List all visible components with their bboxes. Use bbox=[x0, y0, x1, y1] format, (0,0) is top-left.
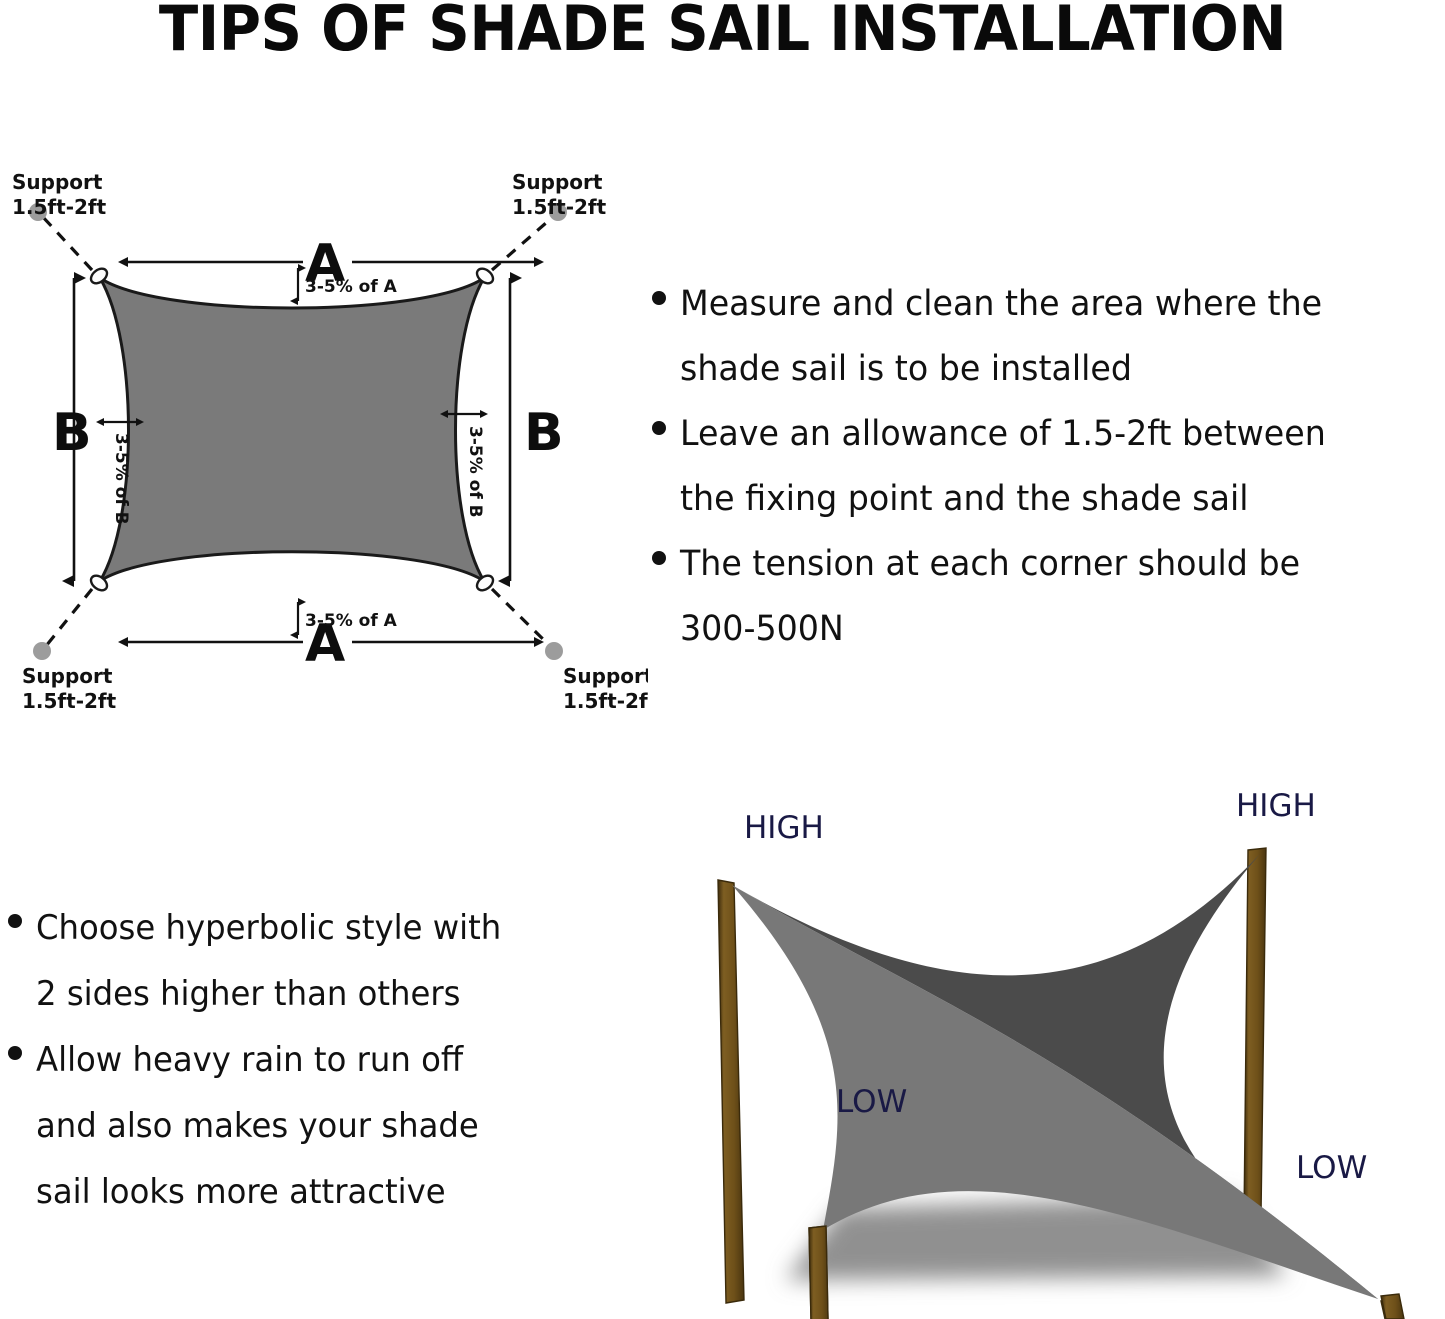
support-line-bottom-right bbox=[492, 589, 550, 646]
list-item-label: shade sail is to be installed bbox=[680, 337, 1132, 402]
corner-label-high-left: HIGH bbox=[744, 810, 824, 846]
list-item-label: Measure and clean the area where the bbox=[680, 272, 1322, 337]
hyperbolic-sail-diagram: HIGH HIGH LOW LOW bbox=[636, 788, 1445, 1319]
list-item-label: The tension at each corner should be bbox=[680, 532, 1300, 597]
list-item-continuation: sail looks more attractive bbox=[8, 1159, 638, 1225]
anchor-dot-bottom-left bbox=[33, 642, 51, 660]
dim-label-left-b: B bbox=[52, 403, 92, 463]
support-label-top-right-line1: Support bbox=[512, 170, 603, 194]
sag-label-left: 3-5% of B bbox=[111, 433, 131, 525]
list-item-label: sail looks more attractive bbox=[36, 1159, 446, 1225]
list-item-label: Allow heavy rain to run off bbox=[36, 1027, 463, 1093]
infographic-page: TIPS OF SHADE SAIL INSTALLATION bbox=[0, 0, 1445, 1319]
bullet-dot-icon bbox=[8, 1046, 22, 1060]
post-back-right bbox=[1244, 848, 1266, 1217]
support-label-top-right-line2: 1.5ft-2ft bbox=[512, 195, 607, 219]
list-item-label: and also makes your shade bbox=[36, 1093, 479, 1159]
list-item-continuation: the fixing point and the shade sail bbox=[652, 467, 1445, 532]
corner-label-high-right: HIGH bbox=[1236, 788, 1316, 824]
list-item: The tension at each corner should be bbox=[652, 532, 1445, 597]
support-label-top-left-line2: 1.5ft-2ft bbox=[12, 195, 107, 219]
list-item-label: 2 sides higher than others bbox=[36, 961, 460, 1027]
list-item-continuation: 2 sides higher than others bbox=[8, 961, 638, 1027]
bullet-dot-icon bbox=[652, 551, 666, 565]
list-item-continuation: 300-500N bbox=[652, 597, 1445, 662]
support-label-bottom-right-line2: 1.5ft-2ft bbox=[563, 689, 648, 713]
bullet-spacer-icon bbox=[652, 616, 666, 630]
post-back-left bbox=[718, 880, 744, 1303]
support-line-top-left bbox=[42, 216, 92, 270]
list-item-label: Leave an allowance of 1.5-2ft between bbox=[680, 402, 1326, 467]
page-title: TIPS OF SHADE SAIL INSTALLATION bbox=[51, 0, 1395, 61]
support-label-bottom-left-line1: Support bbox=[22, 664, 113, 688]
sag-label-top: 3-5% of A bbox=[305, 277, 398, 297]
list-item-continuation: and also makes your shade bbox=[8, 1093, 638, 1159]
bullet-dot-icon bbox=[652, 421, 666, 435]
bullet-spacer-icon bbox=[652, 486, 666, 500]
list-item-label: the fixing point and the shade sail bbox=[680, 467, 1248, 532]
support-label-top-left-line1: Support bbox=[12, 170, 103, 194]
post-front-left-overlay bbox=[809, 1226, 830, 1319]
corner-label-low-right: LOW bbox=[1296, 1150, 1367, 1186]
list-item: Choose hyperbolic style with bbox=[8, 895, 638, 961]
bullet-spacer-icon bbox=[8, 1178, 22, 1192]
sail-body-rect bbox=[100, 278, 484, 581]
dim-label-right-b: B bbox=[524, 403, 564, 463]
corner-label-low-left: LOW bbox=[836, 1084, 907, 1120]
bullet-spacer-icon bbox=[8, 980, 22, 994]
list-item: Allow heavy rain to run off bbox=[8, 1027, 638, 1093]
list-item-label: Choose hyperbolic style with bbox=[36, 895, 501, 961]
tips-list-left: Choose hyperbolic style with 2 sides hig… bbox=[8, 895, 638, 1225]
support-line-bottom-left bbox=[46, 589, 92, 646]
bullet-spacer-icon bbox=[652, 356, 666, 370]
list-item-label: 300-500N bbox=[680, 597, 844, 662]
list-item: Measure and clean the area where the bbox=[652, 272, 1445, 337]
anchor-dot-bottom-right bbox=[545, 642, 563, 660]
list-item: Leave an allowance of 1.5-2ft between bbox=[652, 402, 1445, 467]
support-label-bottom-right-line1: Support bbox=[563, 664, 648, 688]
bullet-dot-icon bbox=[8, 914, 22, 928]
list-item-continuation: shade sail is to be installed bbox=[652, 337, 1445, 402]
sag-label-right: 3-5% of B bbox=[465, 426, 485, 518]
sag-label-bottom: 3-5% of A bbox=[305, 611, 398, 631]
rect-sail-diagram: Support 1.5ft-2ft Support 1.5ft-2ft Supp… bbox=[0, 168, 648, 728]
bullet-dot-icon bbox=[652, 291, 666, 305]
support-label-bottom-left-line2: 1.5ft-2ft bbox=[22, 689, 117, 713]
tips-list-right: Measure and clean the area where the sha… bbox=[652, 272, 1445, 662]
bullet-spacer-icon bbox=[8, 1112, 22, 1126]
